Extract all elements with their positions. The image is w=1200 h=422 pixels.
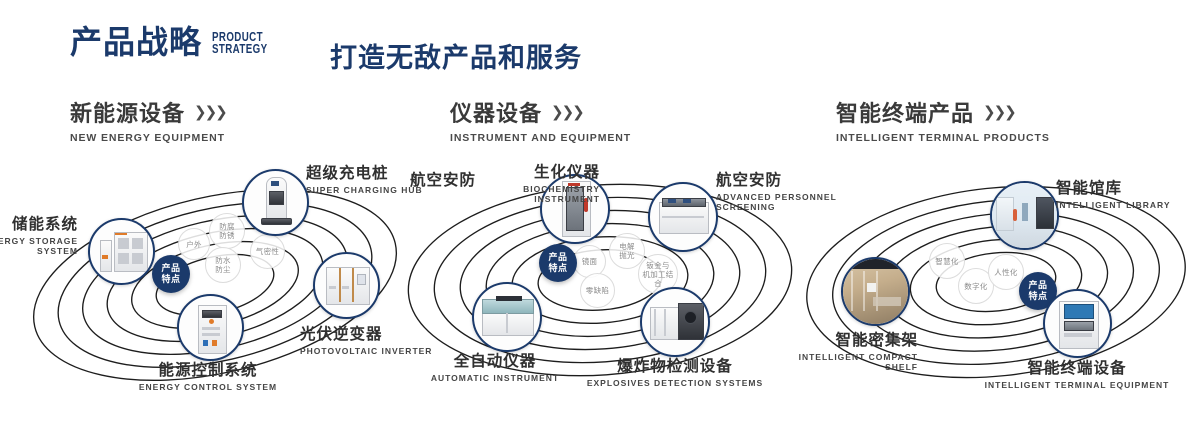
chevron-right-icon: ❯❯❯ <box>194 103 226 121</box>
node-label-automatic-instrument: 全自动仪器 AUTOMATIC INSTRUMENT <box>395 349 595 383</box>
node-intelligent-library[interactable] <box>990 181 1059 250</box>
section-header-intelligent-terminal: 智能终端产品 ❯❯❯ INTELLIGENT TERMINAL PRODUCTS <box>836 96 1050 144</box>
node-label-en: AUTOMATIC INSTRUMENT <box>395 373 595 383</box>
node-label-en: EXPLOSIVES DETECTION SYSTEMS <box>575 378 775 388</box>
section-title-cn: 仪器设备 ❯❯❯ <box>450 96 631 128</box>
section-title-en: INTELLIGENT TERMINAL PRODUCTS <box>836 132 1050 144</box>
node-intelligent-terminal-equipment[interactable] <box>1043 289 1112 358</box>
section-header-instrument: 仪器设备 ❯❯❯ INSTRUMENT AND EQUIPMENT <box>450 96 631 144</box>
pv-inverter-illustration <box>315 254 378 317</box>
section-header-new-energy: 新能源设备 ❯❯❯ NEW ENERGY EQUIPMENT <box>70 96 226 144</box>
section-title-cn-text: 仪器设备 <box>450 96 542 128</box>
section-title-cn-text: 新能源设备 <box>70 96 185 128</box>
page-title-en: PRODUCT STRATEGY <box>212 31 267 55</box>
chevron-right-icon: ❯❯❯ <box>983 103 1015 121</box>
node-label-en: INTELLIGENT TERMINAL EQUIPMENT <box>937 380 1200 390</box>
screening-illustration <box>650 184 716 250</box>
product-strategy-infographic: 产品战略 PRODUCT STRATEGY 打造无敌产品和服务 新能源设备 ❯❯… <box>0 0 1200 422</box>
section-title-cn-text: 智能终端产品 <box>836 96 974 128</box>
feature-bubble: 人性化 <box>988 254 1024 290</box>
node-label-biochemistry-instrument: 生化仪器 BIOCHEMISTRY INSTRUMENT <box>460 160 600 204</box>
node-label-intelligent-terminal-equipment: 智能终端设备 INTELLIGENT TERMINAL EQUIPMENT <box>937 356 1200 390</box>
feature-bubble: 零缺陷 <box>580 273 615 308</box>
page-slogan: 打造无敌产品和服务 <box>330 36 582 75</box>
intelligent-library-illustration <box>992 183 1057 248</box>
charging-hub-illustration <box>244 171 307 234</box>
compact-shelf-illustration <box>843 259 908 324</box>
node-label-cn: 储能系统 <box>0 212 78 234</box>
node-energy-storage-system[interactable] <box>88 218 155 285</box>
feature-bubble: 户外 <box>178 228 210 260</box>
feature-bubble: 防水 防尘 <box>205 247 241 283</box>
energy-storage-illustration <box>90 220 153 283</box>
section-title-en: INSTRUMENT AND EQUIPMENT <box>450 132 631 144</box>
node-label-cn: 智能终端设备 <box>937 356 1200 378</box>
node-label-intelligent-compact-shelf: 智能密集架 INTELLIGENT COMPACT SHELF <box>740 328 918 372</box>
automatic-instrument-illustration <box>474 284 540 350</box>
node-label-cn: 智能密集架 <box>740 328 918 350</box>
page-header: 产品战略 PRODUCT STRATEGY <box>70 26 283 58</box>
node-label-en: ENERGY STORAGE SYSTEM <box>0 236 78 256</box>
chevron-right-icon: ❯❯❯ <box>551 103 583 121</box>
core-badge-product-features: 产品 特点 <box>152 255 190 293</box>
node-photovoltaic-inverter[interactable] <box>313 252 380 319</box>
cluster-new-energy: 户外 防腐 防锈 气密性 防水 防尘 产品 特点 储能系统 ENERGY STO… <box>0 150 420 415</box>
node-label-en: ENERGY CONTROL SYSTEM <box>108 382 308 392</box>
node-label-en: INTELLIGENT COMPACT SHELF <box>740 352 918 372</box>
cluster-intelligent-terminal: 智慧化 数字化 人性化 产品 特点 智能馆库 INTELLIGENT LIBRA… <box>800 150 1200 415</box>
node-label-cn: 生化仪器 <box>460 160 600 182</box>
node-label-cn: 能源控制系统 <box>108 358 308 380</box>
node-label-en: INTELLIGENT LIBRARY <box>1056 200 1200 210</box>
node-label-cn: 智能馆库 <box>1056 176 1200 198</box>
node-label-energy-storage-system: 储能系统 ENERGY STORAGE SYSTEM <box>0 212 78 256</box>
feature-bubble: 气密性 <box>250 234 285 269</box>
node-super-charging-hub[interactable] <box>242 169 309 236</box>
feature-bubble: 智慧化 <box>929 243 965 279</box>
node-automatic-instrument[interactable] <box>472 282 542 352</box>
node-energy-control-system[interactable] <box>177 294 244 361</box>
page-title: 产品战略 <box>70 26 202 58</box>
section-title-cn: 智能终端产品 ❯❯❯ <box>836 96 1050 128</box>
node-label-en: BIOCHEMISTRY INSTRUMENT <box>460 184 600 204</box>
terminal-equipment-illustration <box>1045 291 1110 356</box>
core-badge-product-features: 产品 特点 <box>539 244 577 282</box>
node-intelligent-compact-shelf[interactable] <box>841 257 910 326</box>
node-label-intelligent-library: 智能馆库 INTELLIGENT LIBRARY <box>1056 176 1200 210</box>
node-label-energy-control-system: 能源控制系统 ENERGY CONTROL SYSTEM <box>108 358 308 392</box>
section-title-cn: 新能源设备 ❯❯❯ <box>70 96 226 128</box>
section-title-en: NEW ENERGY EQUIPMENT <box>70 132 226 144</box>
node-advanced-personnel-screening[interactable] <box>648 182 718 252</box>
cluster-instrument: 镜面 电解 抛光 钣金与 机加工结合 零缺陷 产品 特点 航空安防 生化仪器 B… <box>400 150 820 415</box>
feature-bubble: 防腐 防锈 <box>209 213 245 249</box>
explosives-detection-illustration <box>642 289 708 355</box>
node-explosives-detection-systems[interactable] <box>640 287 710 357</box>
energy-control-illustration <box>179 296 242 359</box>
node-label-cn: 全自动仪器 <box>395 349 595 371</box>
